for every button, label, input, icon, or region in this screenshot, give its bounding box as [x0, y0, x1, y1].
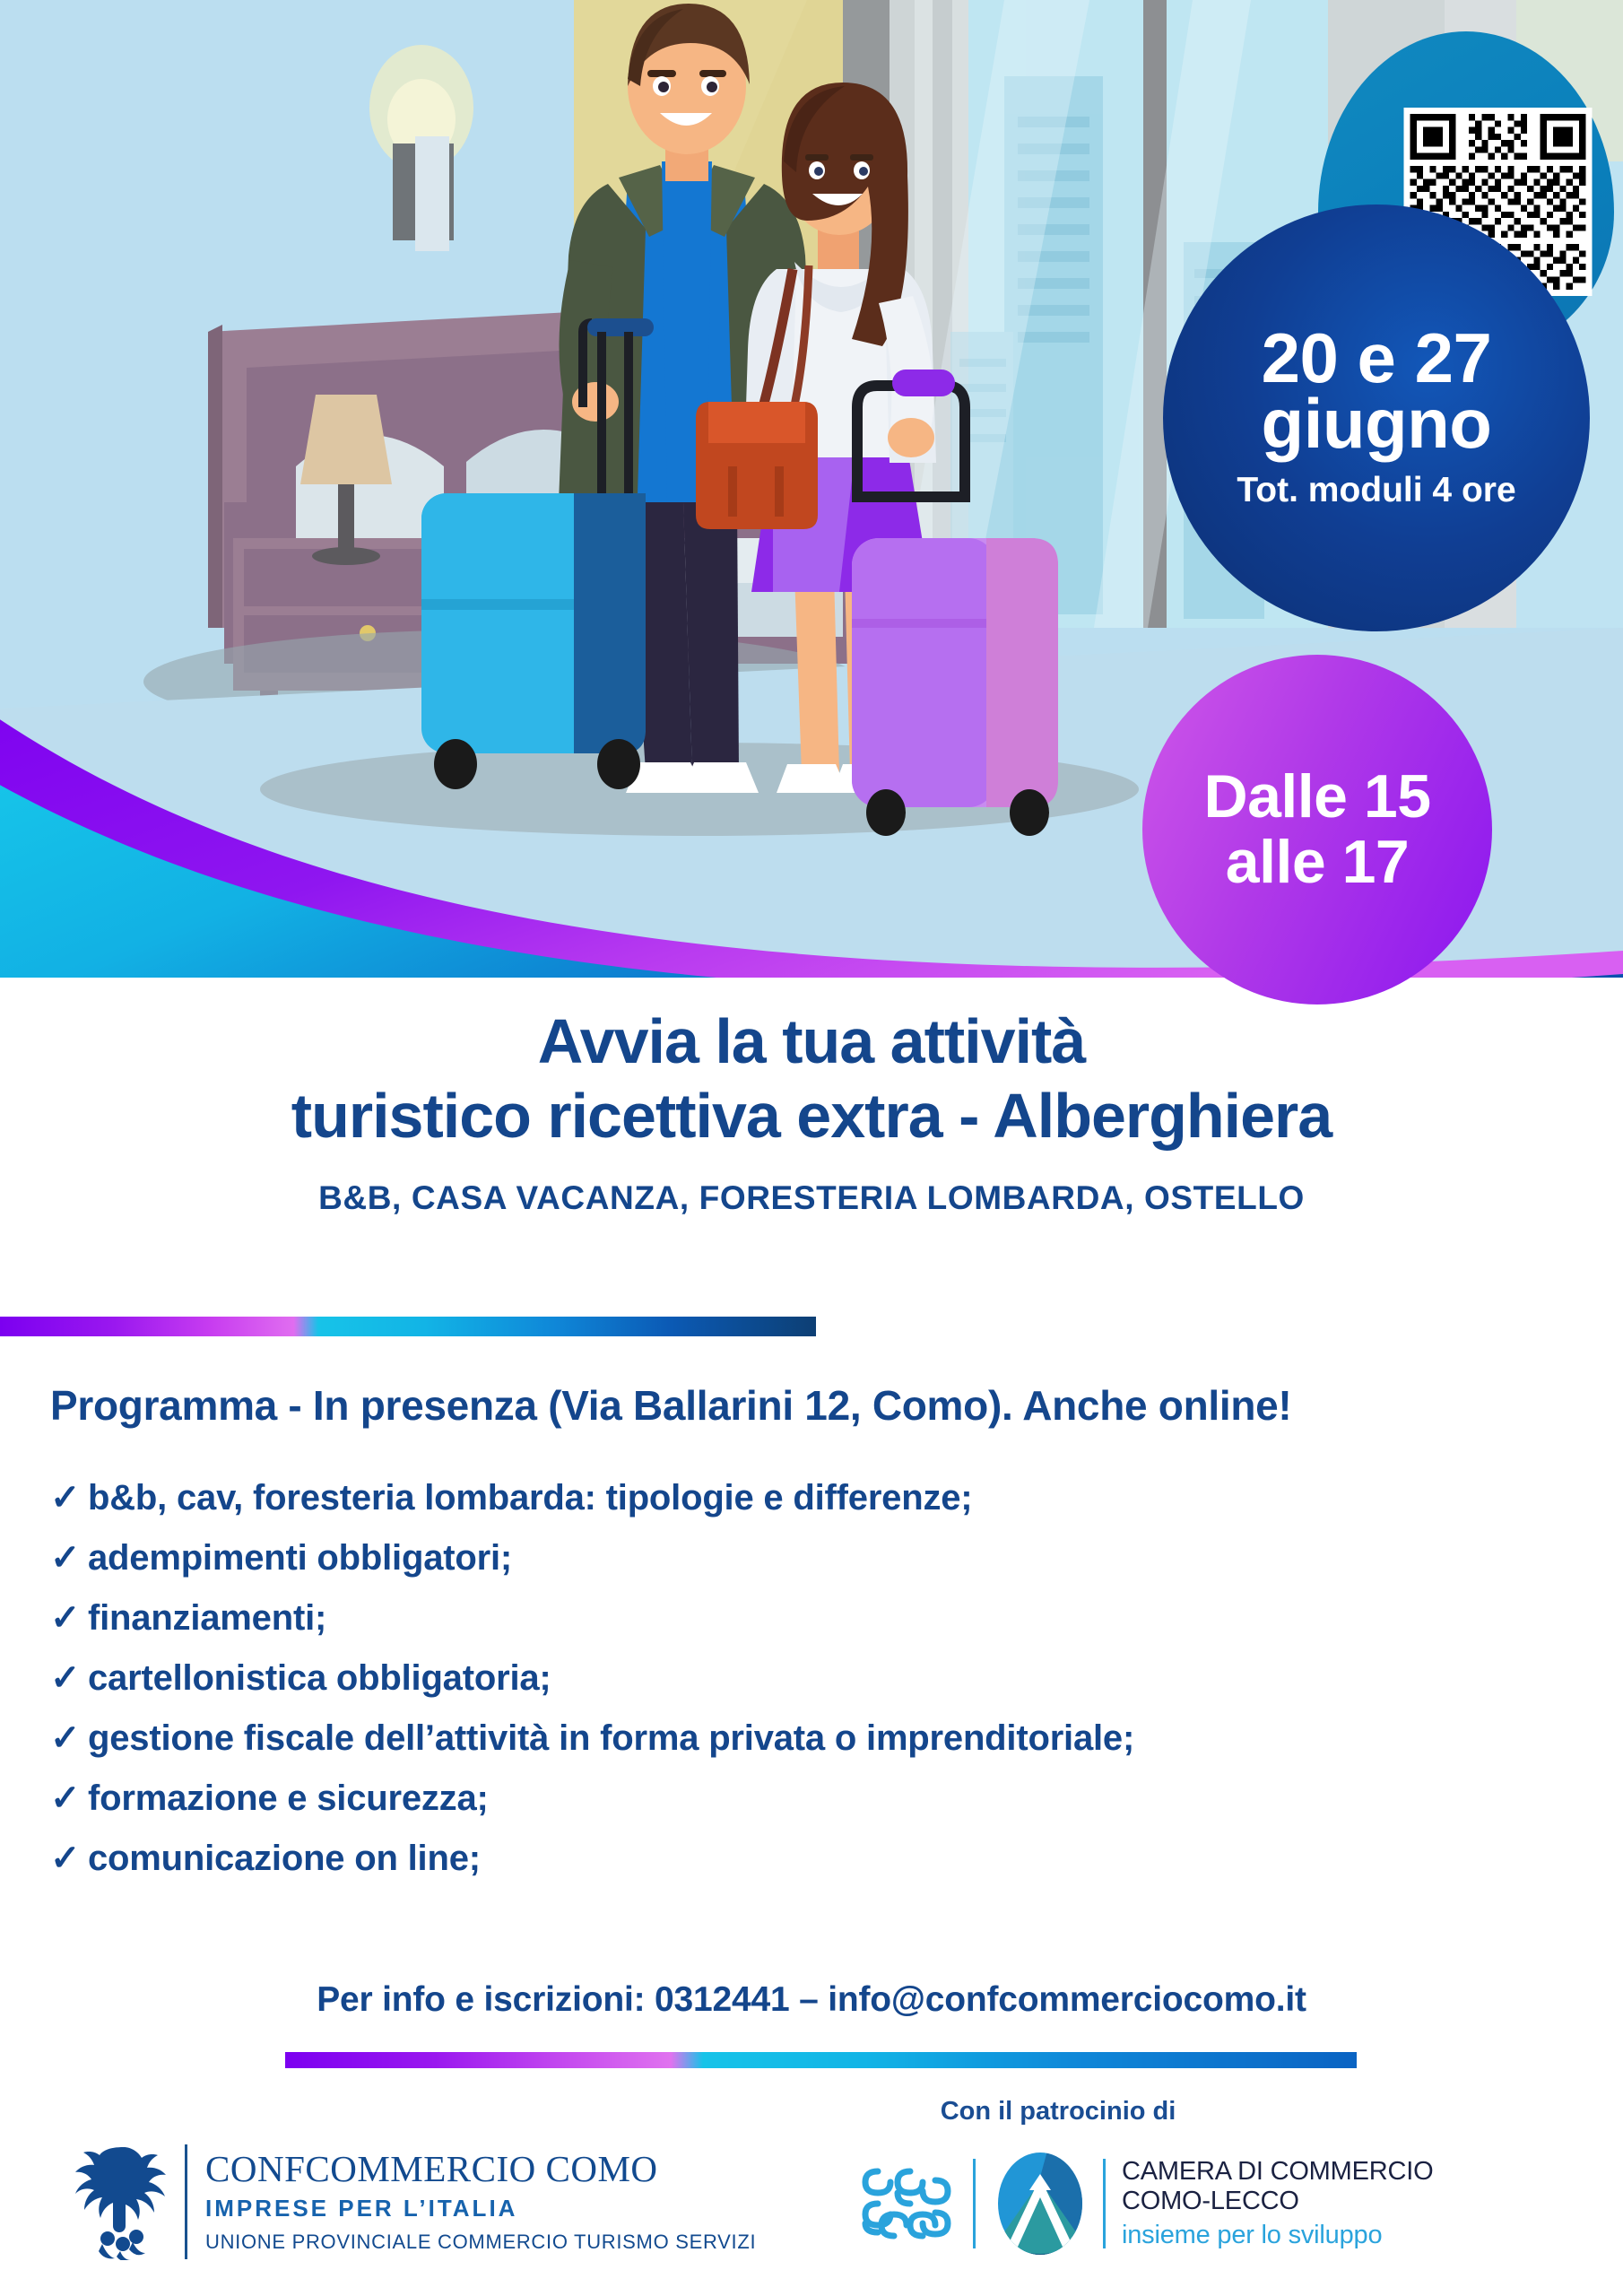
camera-line-3: insieme per lo sviluppo	[1122, 2221, 1433, 2250]
logo-divider	[973, 2159, 976, 2248]
title-block: Avvia la tua attività turistico ricettiv…	[0, 1004, 1623, 1217]
time-badge: Dalle 15 alle 17	[1142, 655, 1492, 1004]
date-note: Tot. moduli 4 ore	[1237, 471, 1515, 510]
confcommercio-subtitle: UNIONE PROVINCIALE COMMERCIO TURISMO SER…	[205, 2231, 756, 2254]
list-item: ✓ formazione e sicurezza;	[50, 1780, 1593, 1816]
camera-commercio-text: CAMERA DI COMMERCIO COMO-LECCO insieme p…	[1122, 2157, 1433, 2250]
list-item-label: cartellonistica obbligatoria;	[88, 1660, 551, 1696]
contact-info[interactable]: Per info e iscrizioni: 0312441 – info@co…	[0, 1980, 1623, 2020]
eagle-icon	[75, 2144, 172, 2260]
time-line-2: alle 17	[1226, 830, 1409, 895]
date-line-1: 20 e 27	[1262, 326, 1492, 391]
confcommercio-name: CONFCOMMERCIO COMO	[205, 2150, 756, 2188]
list-item-label: adempimenti obbligatori;	[88, 1540, 512, 1576]
logo-divider	[1103, 2159, 1106, 2248]
camera-line-2: COMO-LECCO	[1122, 2187, 1433, 2215]
camera-commercio-logo: CAMERA DI COMMERCIO COMO-LECCO insieme p…	[856, 2151, 1433, 2257]
confcommercio-logo: CONFCOMMERCIO COMO IMPRESE PER L’ITALIA …	[75, 2144, 756, 2260]
list-item: ✓ adempimenti obbligatori;	[50, 1540, 1593, 1576]
patronage-label: Con il patrocinio di	[834, 2097, 1282, 2126]
list-item: ✓ b&b, cav, foresteria lombarda: tipolog…	[50, 1480, 1593, 1516]
check-icon: ✓	[50, 1480, 88, 1516]
page-title-line-1: Avvia la tua attività	[0, 1004, 1623, 1079]
list-item-label: comunicazione on line;	[88, 1840, 481, 1876]
list-item: ✓ cartellonistica obbligatoria;	[50, 1660, 1593, 1696]
list-item: ✓ gestione fiscale dell’attività in form…	[50, 1720, 1593, 1756]
program-list: ✓ b&b, cav, foresteria lombarda: tipolog…	[50, 1480, 1593, 1900]
confcommercio-tagline: IMPRESE PER L’ITALIA	[205, 2195, 756, 2222]
date-line-2: giugno	[1262, 391, 1492, 457]
time-line-1: Dalle 15	[1203, 764, 1430, 830]
check-icon: ✓	[50, 1660, 88, 1696]
list-item-label: finanziamenti;	[88, 1600, 326, 1636]
divider-top	[0, 1317, 816, 1336]
check-icon: ✓	[50, 1600, 88, 1636]
list-item-label: gestione fiscale dell’attività in forma …	[88, 1720, 1134, 1756]
check-icon: ✓	[50, 1540, 88, 1576]
check-icon: ✓	[50, 1720, 88, 1756]
list-item-label: formazione e sicurezza;	[88, 1780, 489, 1816]
poster: 20 e 27 giugno Tot. moduli 4 ore Dalle 1…	[0, 0, 1623, 2296]
list-item: ✓ comunicazione on line;	[50, 1840, 1593, 1876]
camera-line-1: CAMERA DI COMMERCIO	[1122, 2157, 1433, 2186]
program-header: Programma - In presenza (Via Ballarini 1…	[50, 1381, 1593, 1430]
list-item-label: b&b, cav, foresteria lombarda: tipologie…	[88, 1480, 972, 1516]
page-title-line-2: turistico ricettiva extra - Alberghiera	[0, 1079, 1623, 1153]
date-badge: 20 e 27 giugno Tot. moduli 4 ore	[1163, 204, 1590, 631]
knot-icon	[856, 2153, 957, 2254]
page-subtitle: B&B, CASA VACANZA, FORESTERIA LOMBARDA, …	[0, 1179, 1623, 1217]
camera-mark-icon	[992, 2151, 1089, 2257]
check-icon: ✓	[50, 1780, 88, 1816]
divider-bottom	[285, 2052, 1357, 2068]
confcommercio-text: CONFCOMMERCIO COMO IMPRESE PER L’ITALIA …	[205, 2150, 756, 2254]
logo-divider	[185, 2144, 187, 2259]
check-icon: ✓	[50, 1840, 88, 1876]
list-item: ✓ finanziamenti;	[50, 1600, 1593, 1636]
